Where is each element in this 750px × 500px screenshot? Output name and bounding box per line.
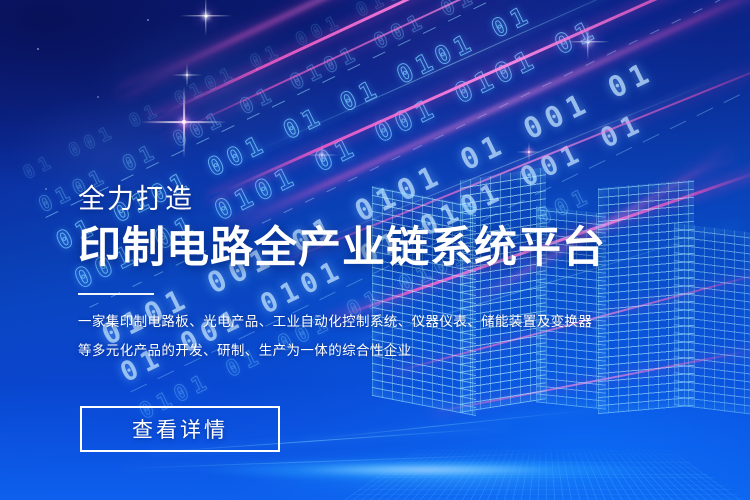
hero-text-block: 全力打造 印制电路全产业链系统平台 一家集印制电路板、光电产品、工业自动化控制系… bbox=[78, 186, 698, 370]
hero-eyebrow: 全力打造 bbox=[78, 186, 698, 213]
hero-headline: 印制电路全产业链系统平台 bbox=[78, 225, 698, 271]
view-details-button[interactable]: 查看详情 bbox=[80, 406, 280, 452]
description-line: 等多元化产品的开发、研制、生产为一体的综合性企业 bbox=[78, 341, 698, 362]
hero-description: 一家集印制电路板、光电产品、工业自动化控制系统、仪器仪表、储能装置及变换器 等多… bbox=[78, 312, 698, 362]
hero-divider bbox=[78, 293, 154, 295]
description-line: 一家集印制电路板、光电产品、工业自动化控制系统、仪器仪表、储能装置及变换器 bbox=[78, 312, 698, 333]
hero-banner: 01 001 01 0101 01 001 0101 0101 01 001 0… bbox=[0, 0, 750, 500]
